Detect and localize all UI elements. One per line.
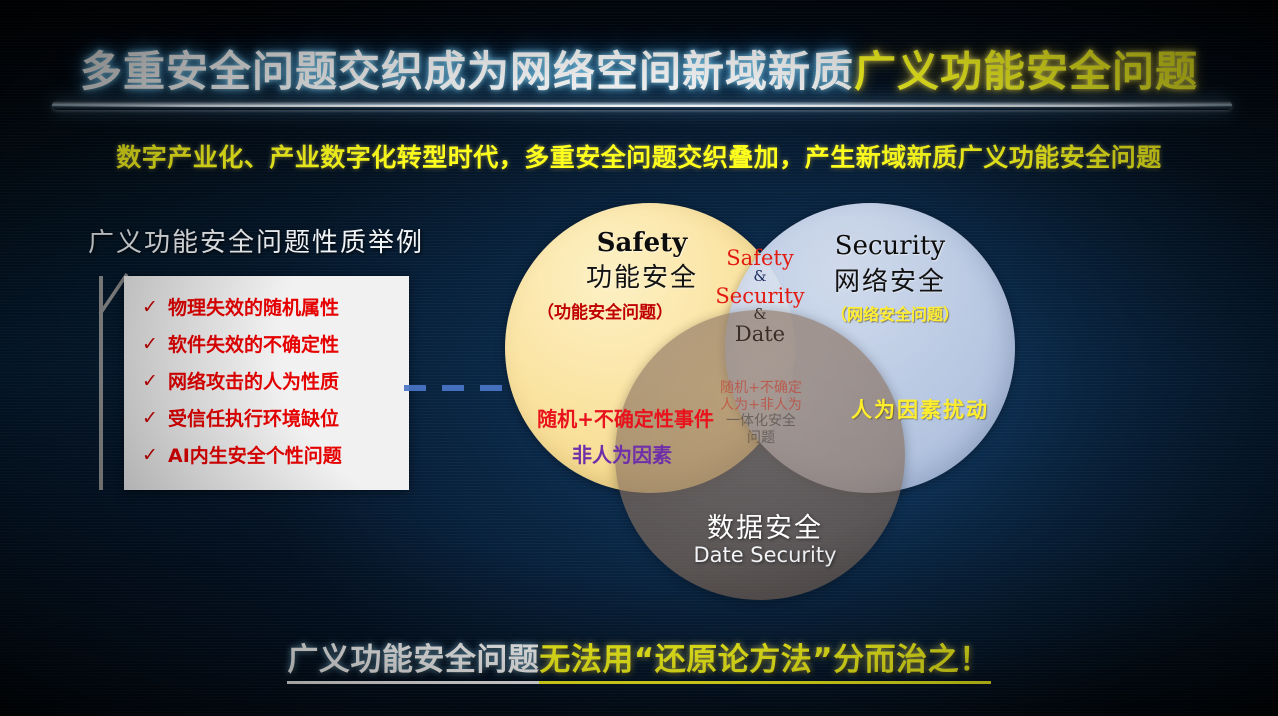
list-item[interactable]: ✓ 软件失效的不确定性 (138, 325, 409, 362)
list-item-label: 网络攻击的人为性质 (168, 367, 339, 394)
center-sub-line-1: 随机+不确定 (698, 380, 824, 397)
properties-list: ✓ 物理失效的随机属性 ✓ 软件失效的不确定性 ✓ 网络攻击的人为性质 ✓ 受信… (124, 276, 409, 473)
page-title: 多重安全问题交织成为网络空间新域新质广义功能安全问题 (0, 38, 1278, 99)
check-icon: ✓ (138, 296, 162, 318)
data-title-en: Date Security (670, 543, 860, 567)
list-item[interactable]: ✓ 物理失效的随机属性 (138, 288, 409, 325)
center-line-amp-2: & (688, 307, 832, 323)
page-title-yellow-part: 广义功能安全问题 (854, 47, 1198, 96)
list-item-label: 软件失效的不确定性 (168, 330, 339, 357)
list-item-label: 受信任执行环境缺位 (168, 404, 339, 431)
venn-center-label: Safety & Security & Date (688, 247, 832, 346)
check-icon: ✓ (138, 370, 162, 392)
safety-note-line-1: 随机+不确定性事件 (518, 403, 733, 432)
safety-subtitle: （功能安全问题） (510, 298, 700, 323)
check-icon: ✓ (138, 444, 162, 466)
security-note: 人为因素扰动 (820, 394, 1020, 424)
bottom-banner-yellow-part: 无法用“还原论方法”分而治之！ (539, 642, 990, 684)
venn-diagram: Safety 功能安全 （功能安全问题） Security 网络安全 （网络安全… (490, 195, 1030, 595)
bottom-banner: 广义功能安全问题无法用“还原论方法”分而治之！ (0, 634, 1278, 679)
list-item[interactable]: ✓ 网络攻击的人为性质 (138, 362, 409, 399)
center-line-security: Security (688, 285, 832, 307)
list-item-label: 物理失效的随机属性 (168, 293, 339, 320)
center-sub-line-4: 问题 (698, 430, 824, 447)
safety-note-line-2: 非人为因素 (532, 439, 712, 468)
center-line-safety: Safety (688, 247, 832, 269)
center-line-amp-1: & (688, 269, 832, 285)
check-icon: ✓ (138, 407, 162, 429)
title-divider (52, 101, 1232, 110)
center-line-date: Date (688, 323, 832, 345)
bottom-banner-white-part: 广义功能安全问题 (287, 642, 539, 684)
list-item[interactable]: ✓ AI内生安全个性问题 (138, 436, 409, 473)
slide-canvas: 多重安全问题交织成为网络空间新域新质广义功能安全问题 数字产业化、产业数字化转型… (0, 0, 1278, 716)
list-item[interactable]: ✓ 受信任执行环境缺位 (138, 399, 409, 436)
list-item-label: AI内生安全个性问题 (168, 441, 342, 468)
subtitle: 数字产业化、产业数字化转型时代，多重安全问题交织叠加，产生新域新质广义功能安全问… (0, 138, 1278, 174)
properties-list-box: ✓ 物理失效的随机属性 ✓ 软件失效的不确定性 ✓ 网络攻击的人为性质 ✓ 受信… (124, 276, 409, 490)
page-title-white-part: 多重安全问题交织成为网络空间新域新质 (80, 47, 854, 96)
left-panel-heading: 广义功能安全问题性质举例 (88, 222, 424, 259)
check-icon: ✓ (138, 333, 162, 355)
data-title-cn: 数据安全 (670, 506, 860, 545)
